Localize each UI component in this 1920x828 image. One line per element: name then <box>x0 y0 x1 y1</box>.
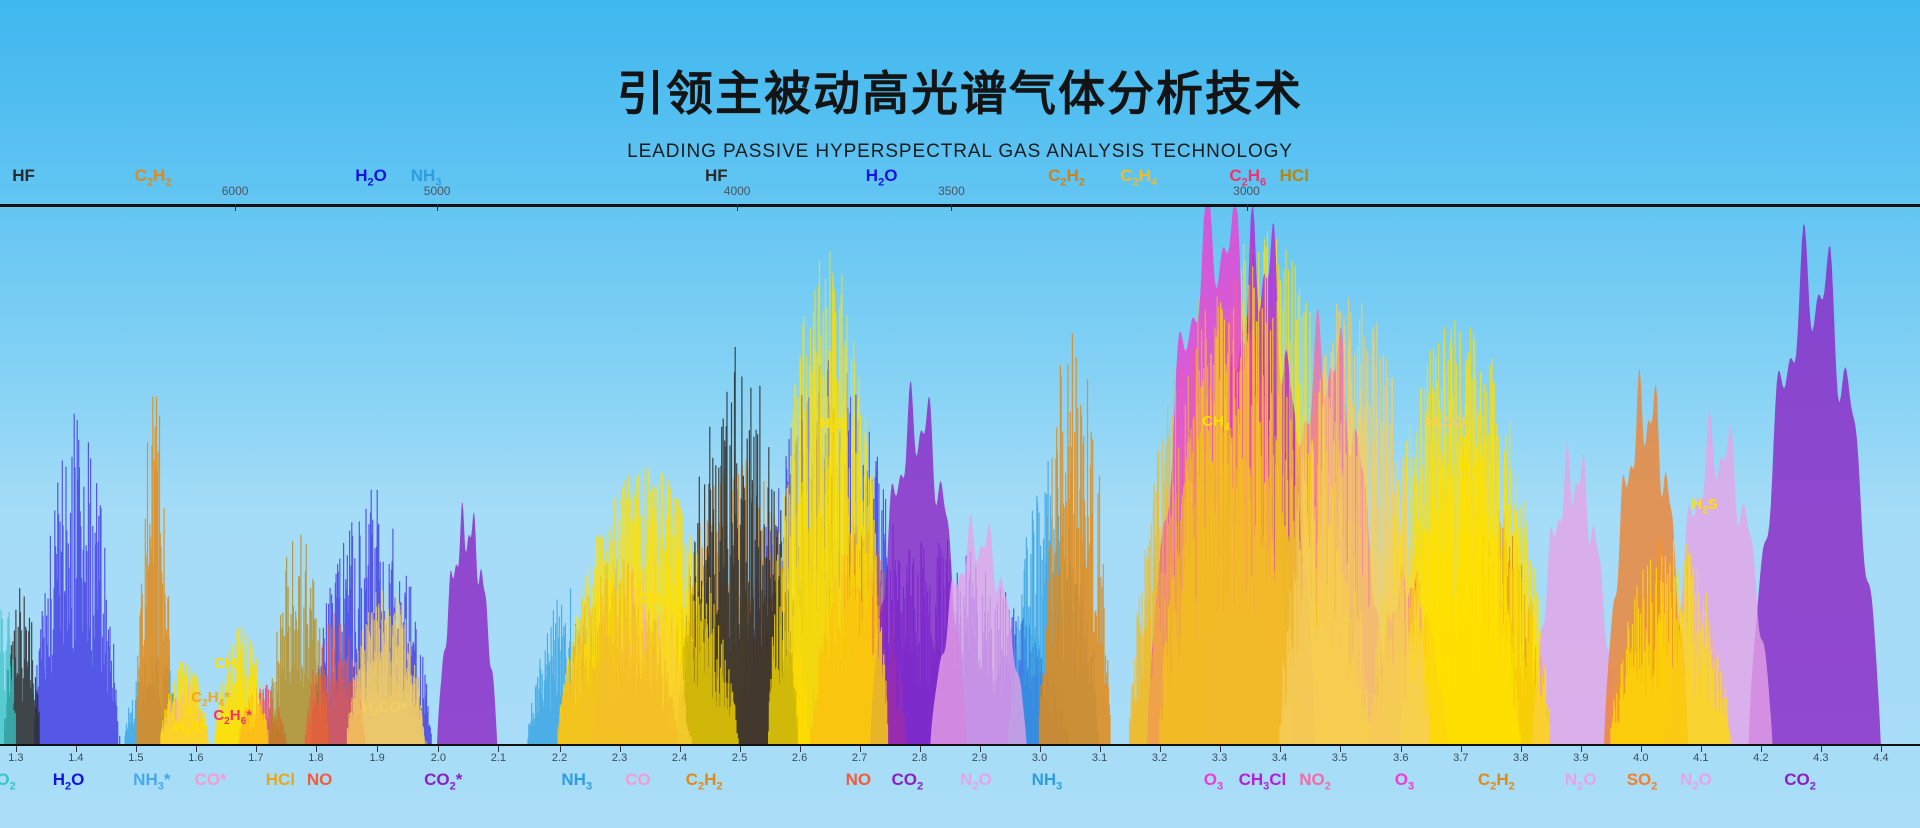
top-tick-label: 3500 <box>938 184 965 198</box>
spectral-lines <box>0 610 15 744</box>
bottom-tick-label: 3.9 <box>1573 752 1588 764</box>
bottom-tick-label: 2.6 <box>792 752 807 764</box>
bottom-tick-mark <box>136 746 137 752</box>
bottom-tick-mark <box>1401 746 1402 752</box>
bottom-tick-label: 2.7 <box>852 752 867 764</box>
bottom-tick-label: 4.2 <box>1753 752 1768 764</box>
bottom-tick-label: 2.4 <box>672 752 687 764</box>
bottom-tick-label: 3.6 <box>1393 752 1408 764</box>
inplot-gas-label-h2s: H2S <box>1460 457 1486 477</box>
bottom-gas-label-n2o: N2O <box>960 770 992 792</box>
bottom-tick-mark <box>316 746 317 752</box>
bottom-tick-label: 3.7 <box>1453 752 1468 764</box>
bottom-tick-label: 3.3 <box>1212 752 1227 764</box>
bottom-gas-label-n2o: N2O <box>1680 770 1712 792</box>
inplot-gas-label-h2s: H2S <box>819 415 845 435</box>
bottom-gas-label-so2: SO2 <box>1627 770 1658 792</box>
bottom-gas-label-hcl: HCl <box>266 770 295 790</box>
bottom-tick-mark <box>1280 746 1281 752</box>
bottom-gas-label-nh3: NH3* <box>133 770 170 792</box>
top-gas-label-hf: HF <box>705 166 728 186</box>
bottom-gas-label-c2h2: C2H2 <box>1478 770 1515 792</box>
bottom-tick-mark <box>377 746 378 752</box>
bottom-tick-label: 1.8 <box>308 752 323 764</box>
page-subtitle: LEADING PASSIVE HYPERSPECTRAL GAS ANALYS… <box>0 141 1920 163</box>
bottom-tick-mark <box>1881 746 1882 752</box>
bottom-gas-label-co: CO <box>625 770 651 790</box>
spectral-band <box>437 502 497 744</box>
bottom-tick-mark <box>1220 746 1221 752</box>
bottom-gas-label-o2: O2 <box>0 770 16 792</box>
bottom-gas-label-ch3cl: CH3Cl <box>1239 770 1287 792</box>
bottom-tick-mark <box>1641 746 1642 752</box>
inplot-gas-label-h2co: H2CO* <box>362 699 407 719</box>
top-tick-label: 3000 <box>1233 184 1260 198</box>
bottom-gas-label-nh3: NH3 <box>1032 770 1063 792</box>
bottom-gas-label-o3: O3 <box>1395 770 1414 792</box>
bottom-tick-mark <box>740 746 741 752</box>
top-tick-label: 5000 <box>424 184 451 198</box>
spectra-canvas <box>0 207 1920 744</box>
bottom-tick-mark <box>498 746 499 752</box>
inplot-gas-label-h2s: H2S* <box>174 719 206 739</box>
top-gas-label-hcl: HCl <box>1280 166 1309 186</box>
page-title: 引领主被动高光谱气体分析技术 <box>0 55 1920 124</box>
bottom-tick-label: 1.5 <box>128 752 143 764</box>
top-gas-label-h2o: H2O <box>866 166 898 188</box>
bottom-tick-mark <box>16 746 17 752</box>
bottom-tick-mark <box>1701 746 1702 752</box>
bottom-tick-label: 4.1 <box>1693 752 1708 764</box>
bottom-tick-label: 3.4 <box>1272 752 1287 764</box>
bottom-tick-label: 2.5 <box>732 752 747 764</box>
bottom-tick-mark <box>980 746 981 752</box>
bottom-tick-mark <box>1581 746 1582 752</box>
bottom-tick-mark <box>920 746 921 752</box>
bottom-tick-mark <box>438 746 439 752</box>
bottom-tick-mark <box>1521 746 1522 752</box>
bottom-gas-label-co: CO* <box>195 770 227 790</box>
bottom-axis-line <box>0 744 1920 746</box>
bottom-tick-mark <box>1040 746 1041 752</box>
bottom-gas-label-no: NO <box>846 770 872 790</box>
bottom-tick-label: 4.0 <box>1633 752 1648 764</box>
bottom-tick-label: 2.2 <box>552 752 567 764</box>
bottom-gas-label-n2o: N2O <box>1565 770 1597 792</box>
bottom-tick-label: 4.4 <box>1873 752 1888 764</box>
bottom-tick-label: 1.9 <box>369 752 384 764</box>
bottom-tick-mark <box>1160 746 1161 752</box>
spectral-banner: 引领主被动高光谱气体分析技术 LEADING PASSIVE HYPERSPEC… <box>0 0 1920 828</box>
bottom-gas-label-co2: CO2* <box>424 770 462 792</box>
spectral-band <box>1749 224 1881 744</box>
bottom-gas-label-h2o: H2O <box>53 770 85 792</box>
bottom-tick-mark <box>196 746 197 752</box>
bottom-gas-label-c2h2: C2H2 <box>686 770 723 792</box>
bottom-tick-label: 2.0 <box>431 752 446 764</box>
inplot-gas-label-ch4: CH4 <box>214 655 241 675</box>
bottom-tick-mark <box>860 746 861 752</box>
bottom-tick-label: 2.9 <box>972 752 987 764</box>
inplot-gas-label-ch4: CH4 <box>1202 413 1229 433</box>
bottom-gas-label-no2: NO2 <box>1299 770 1331 792</box>
inplot-gas-label-h2co: H2CO <box>1427 414 1466 434</box>
top-gas-label-c2h2: C2H2 <box>1048 166 1085 188</box>
top-tick-label: 6000 <box>222 184 249 198</box>
bottom-tick-mark <box>1761 746 1762 752</box>
inplot-gas-label-ch4: CH4 <box>638 590 665 610</box>
bottom-tick-mark <box>1461 746 1462 752</box>
series-o2 <box>0 610 15 744</box>
bottom-tick-mark <box>800 746 801 752</box>
bottom-tick-label: 2.8 <box>912 752 927 764</box>
bottom-tick-mark <box>560 746 561 752</box>
bottom-tick-label: 2.3 <box>612 752 627 764</box>
inplot-gas-label-c2h6: C2H6* <box>213 707 252 727</box>
bottom-gas-label-co2: CO2 <box>892 770 924 792</box>
bottom-tick-mark <box>256 746 257 752</box>
bottom-tick-mark <box>620 746 621 752</box>
bottom-tick-label: 1.3 <box>8 752 23 764</box>
bottom-tick-label: 1.7 <box>248 752 263 764</box>
top-gas-label-c2h2: C2H2 <box>135 166 172 188</box>
bottom-tick-label: 3.5 <box>1332 752 1347 764</box>
top-gas-label-c2h4: C2H4 <box>1120 166 1157 188</box>
bottom-tick-label: 1.6 <box>188 752 203 764</box>
bottom-tick-mark <box>680 746 681 752</box>
spectral-lines <box>137 397 172 744</box>
bottom-gas-label-no: NO <box>307 770 333 790</box>
top-gas-label-h2o: H2O <box>355 166 387 188</box>
bottom-tick-label: 3.1 <box>1092 752 1107 764</box>
bottom-tick-mark <box>1340 746 1341 752</box>
bottom-tick-label: 3.8 <box>1513 752 1528 764</box>
spectra-plot <box>0 207 1920 744</box>
top-gas-label-hf: HF <box>12 166 35 186</box>
inplot-gas-label-c2h4: C2H4* <box>191 689 230 709</box>
bottom-tick-mark <box>76 746 77 752</box>
inplot-gas-label-h2s: H2S <box>1691 496 1717 516</box>
bottom-tick-label: 4.3 <box>1813 752 1828 764</box>
bottom-gas-label-co2: CO2 <box>1784 770 1816 792</box>
bottom-tick-label: 3.0 <box>1032 752 1047 764</box>
spectral-lines <box>35 414 120 744</box>
top-tick-label: 4000 <box>724 184 751 198</box>
bottom-tick-mark <box>1100 746 1101 752</box>
bottom-tick-label: 2.1 <box>491 752 506 764</box>
bottom-gas-label-o3: O3 <box>1204 770 1223 792</box>
bottom-gas-label-nh3: NH3 <box>561 770 592 792</box>
bottom-tick-label: 3.2 <box>1152 752 1167 764</box>
banner-header: 引领主被动高光谱气体分析技术 LEADING PASSIVE HYPERSPEC… <box>0 0 1920 200</box>
bottom-tick-mark <box>1821 746 1822 752</box>
bottom-tick-label: 1.4 <box>68 752 83 764</box>
